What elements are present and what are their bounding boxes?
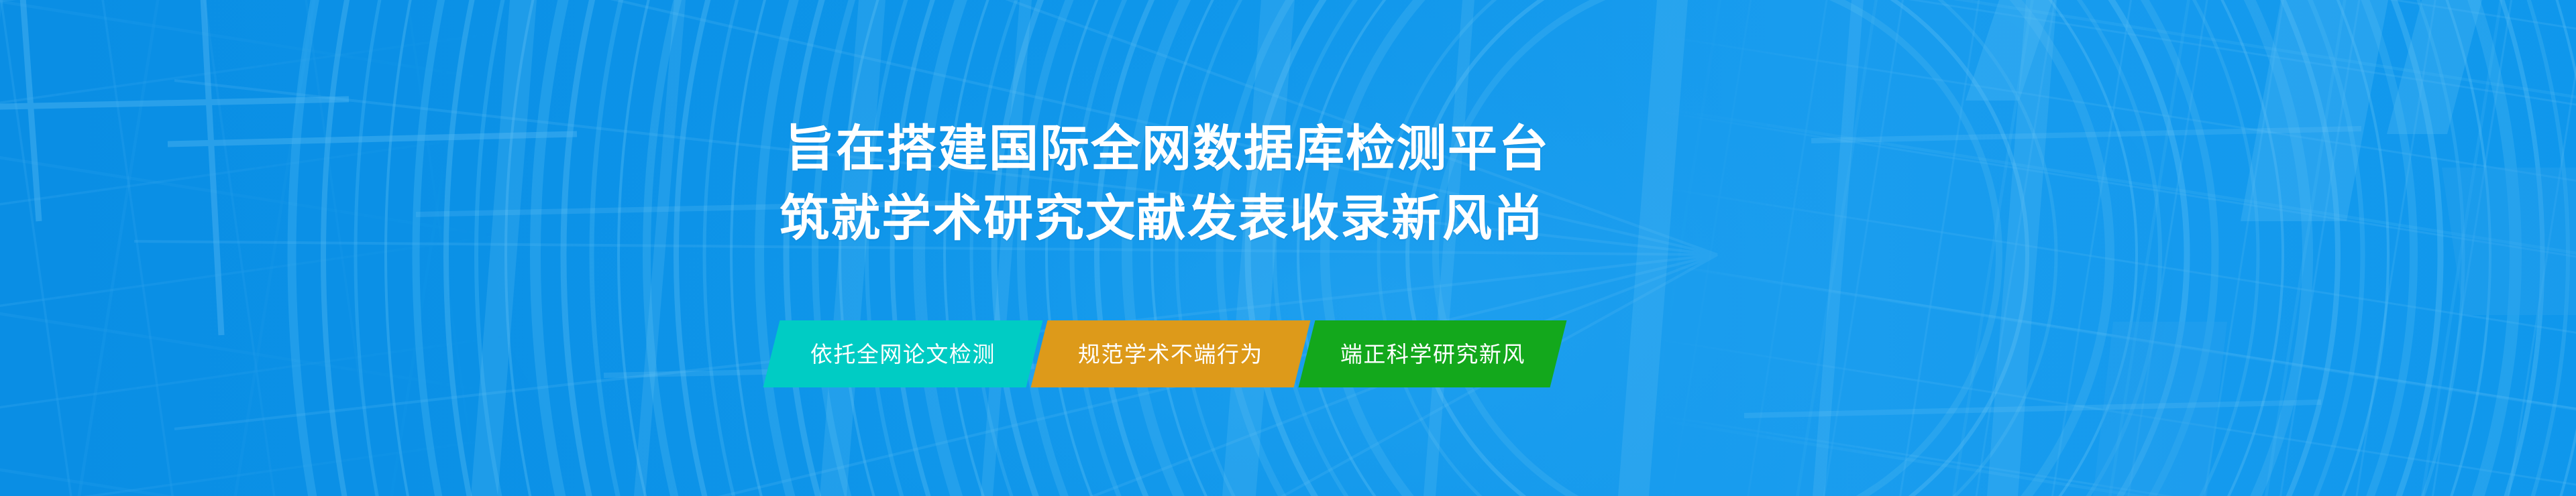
promo-banner: 旨在搭建国际全网数据库检测平台 筑就学术研究文献发表收录新风尚 依托全网论文检测… xyxy=(0,0,2576,496)
feature-tag-1-label: 依托全网论文检测 xyxy=(810,343,996,365)
headline-block: 旨在搭建国际全网数据库检测平台 筑就学术研究文献发表收录新风尚 xyxy=(0,114,1550,253)
feature-tag-strip: 依托全网论文检测 规范学术不端行为 端正科学研究新风 xyxy=(771,320,1558,387)
feature-tag-2[interactable]: 规范学术不端行为 xyxy=(1031,320,1311,387)
right-grid-pattern xyxy=(1543,0,2576,496)
headline-line-1: 旨在搭建国际全网数据库检测平台 xyxy=(0,114,1550,184)
feature-tag-3[interactable]: 端正科学研究新风 xyxy=(1299,320,1567,387)
feature-tag-3-label: 端正科学研究新风 xyxy=(1340,343,1525,365)
feature-tag-1[interactable]: 依托全网论文检测 xyxy=(763,320,1043,387)
feature-tag-2-label: 规范学术不端行为 xyxy=(1078,343,1263,365)
headline-line-2: 筑就学术研究文献发表收录新风尚 xyxy=(0,184,1550,253)
